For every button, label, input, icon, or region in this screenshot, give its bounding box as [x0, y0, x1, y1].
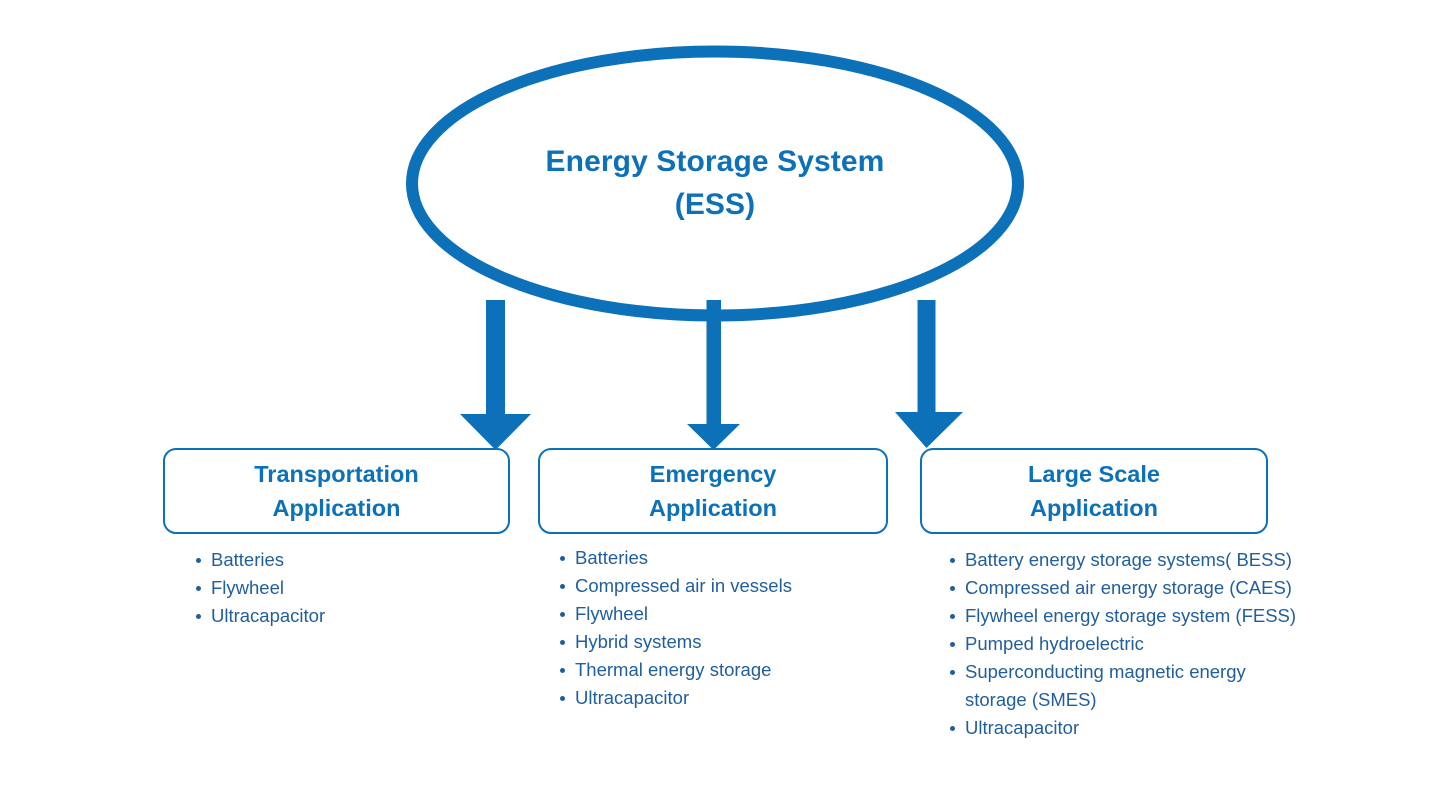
- arrow-to-transportation: [455, 300, 535, 452]
- root-title-line2: (ESS): [675, 184, 756, 227]
- list-item: Flywheel: [560, 600, 890, 628]
- branch-heading-line2: Application: [273, 491, 401, 525]
- list-item: Ultracapacitor: [196, 602, 516, 630]
- branch-heading-line2: Application: [1030, 491, 1158, 525]
- branch-box-large-scale[interactable]: Large Scale Application: [920, 448, 1268, 534]
- list-item: Pumped hydroelectric: [950, 630, 1298, 658]
- list-item: Batteries: [560, 544, 890, 572]
- list-item: Ultracapacitor: [950, 714, 1298, 742]
- branch-list-emergency: Batteries Compressed air in vessels Flyw…: [560, 544, 890, 712]
- arrow-down-icon: [455, 300, 535, 452]
- root-node-ellipse: Energy Storage System (ESS): [405, 45, 1025, 322]
- arrow-to-emergency: [684, 300, 744, 452]
- list-item: Flywheel: [196, 574, 516, 602]
- branch-box-emergency[interactable]: Emergency Application: [538, 448, 888, 534]
- root-title-line1: Energy Storage System: [546, 141, 885, 184]
- branch-list-transportation: Batteries Flywheel Ultracapacitor: [196, 546, 516, 630]
- branch-box-transportation[interactable]: Transportation Application: [163, 448, 510, 534]
- list-item: Superconducting magnetic energy storage …: [950, 658, 1298, 714]
- list-item: Batteries: [196, 546, 516, 574]
- diagram-canvas: Energy Storage System (ESS) Transportati…: [0, 0, 1430, 804]
- arrow-to-large-scale: [891, 300, 969, 450]
- arrow-down-icon: [684, 300, 744, 452]
- list-item: Ultracapacitor: [560, 684, 890, 712]
- list-item: Hybrid systems: [560, 628, 890, 656]
- list-item: Compressed air in vessels: [560, 572, 890, 600]
- list-item: Flywheel energy storage system (FESS): [950, 602, 1298, 630]
- root-node-label: Energy Storage System (ESS): [405, 45, 1025, 322]
- list-item: Battery energy storage systems( BESS): [950, 546, 1298, 574]
- list-item: Compressed air energy storage (CAES): [950, 574, 1298, 602]
- arrow-down-icon: [891, 300, 969, 450]
- branch-heading-line1: Large Scale: [1028, 457, 1160, 491]
- branch-heading-line1: Transportation: [254, 457, 419, 491]
- branch-heading-line1: Emergency: [650, 457, 777, 491]
- branch-heading-line2: Application: [649, 491, 777, 525]
- list-item: Thermal energy storage: [560, 656, 890, 684]
- branch-list-large-scale: Battery energy storage systems( BESS) Co…: [950, 546, 1298, 742]
